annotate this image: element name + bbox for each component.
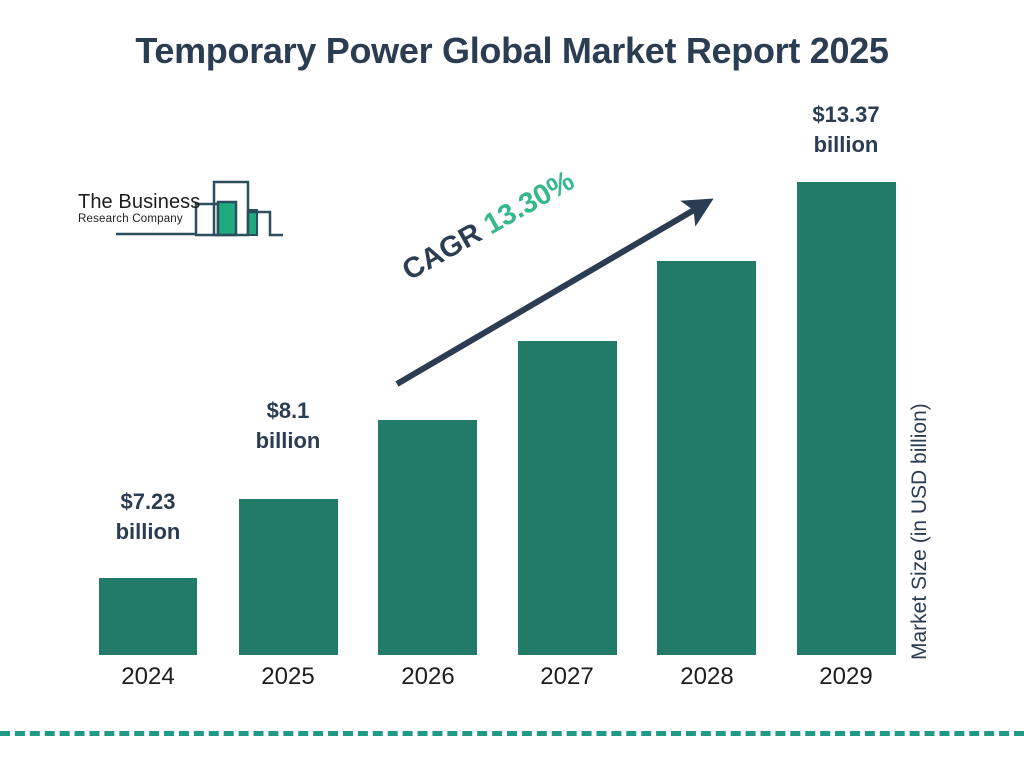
bar-value-label-2024: $7.23 billion <box>78 487 218 547</box>
bar-2029[interactable] <box>797 182 896 655</box>
x-tick-2027: 2027 <box>497 662 637 692</box>
bar-value-label-2029-line2: billion <box>776 130 916 160</box>
x-tick-2029: 2029 <box>776 662 916 692</box>
bar-value-label-2029-line1: $13.37 <box>776 100 916 130</box>
bar-value-label-2024-line2: billion <box>78 517 218 547</box>
bar-2028[interactable] <box>657 261 756 655</box>
bar-value-label-2025-line2: billion <box>218 426 358 456</box>
bar-value-label-2024-line1: $7.23 <box>78 487 218 517</box>
x-tick-2026: 2026 <box>358 662 498 692</box>
y-axis-title-text: Market Size (in USD billion) <box>908 330 932 660</box>
bar-value-label-2025: $8.1 billion <box>218 396 358 456</box>
plot-area: $7.23 billion 2024 $8.1 billion 2025 202… <box>0 0 1024 768</box>
x-tick-2024: 2024 <box>78 662 218 692</box>
logo-text: The Business Research Company <box>78 192 203 227</box>
x-tick-2025: 2025 <box>218 662 358 692</box>
chart-page: Temporary Power Global Market Report 202… <box>0 0 1024 768</box>
bar-value-label-2025-line1: $8.1 <box>218 396 358 426</box>
bar-2026[interactable] <box>378 420 477 655</box>
x-tick-2028: 2028 <box>637 662 777 692</box>
y-axis-title: Market Size (in USD billion) <box>908 0 942 330</box>
logo-line-1: The Business <box>78 192 203 212</box>
bar-2025[interactable] <box>239 499 338 655</box>
footer-divider <box>0 731 1024 736</box>
logo-line-2: Research Company <box>78 212 203 227</box>
company-logo: The Business Research Company <box>78 176 283 246</box>
bar-2027[interactable] <box>518 341 617 655</box>
bar-value-label-2029: $13.37 billion <box>776 100 916 160</box>
bar-2024[interactable] <box>99 578 197 655</box>
